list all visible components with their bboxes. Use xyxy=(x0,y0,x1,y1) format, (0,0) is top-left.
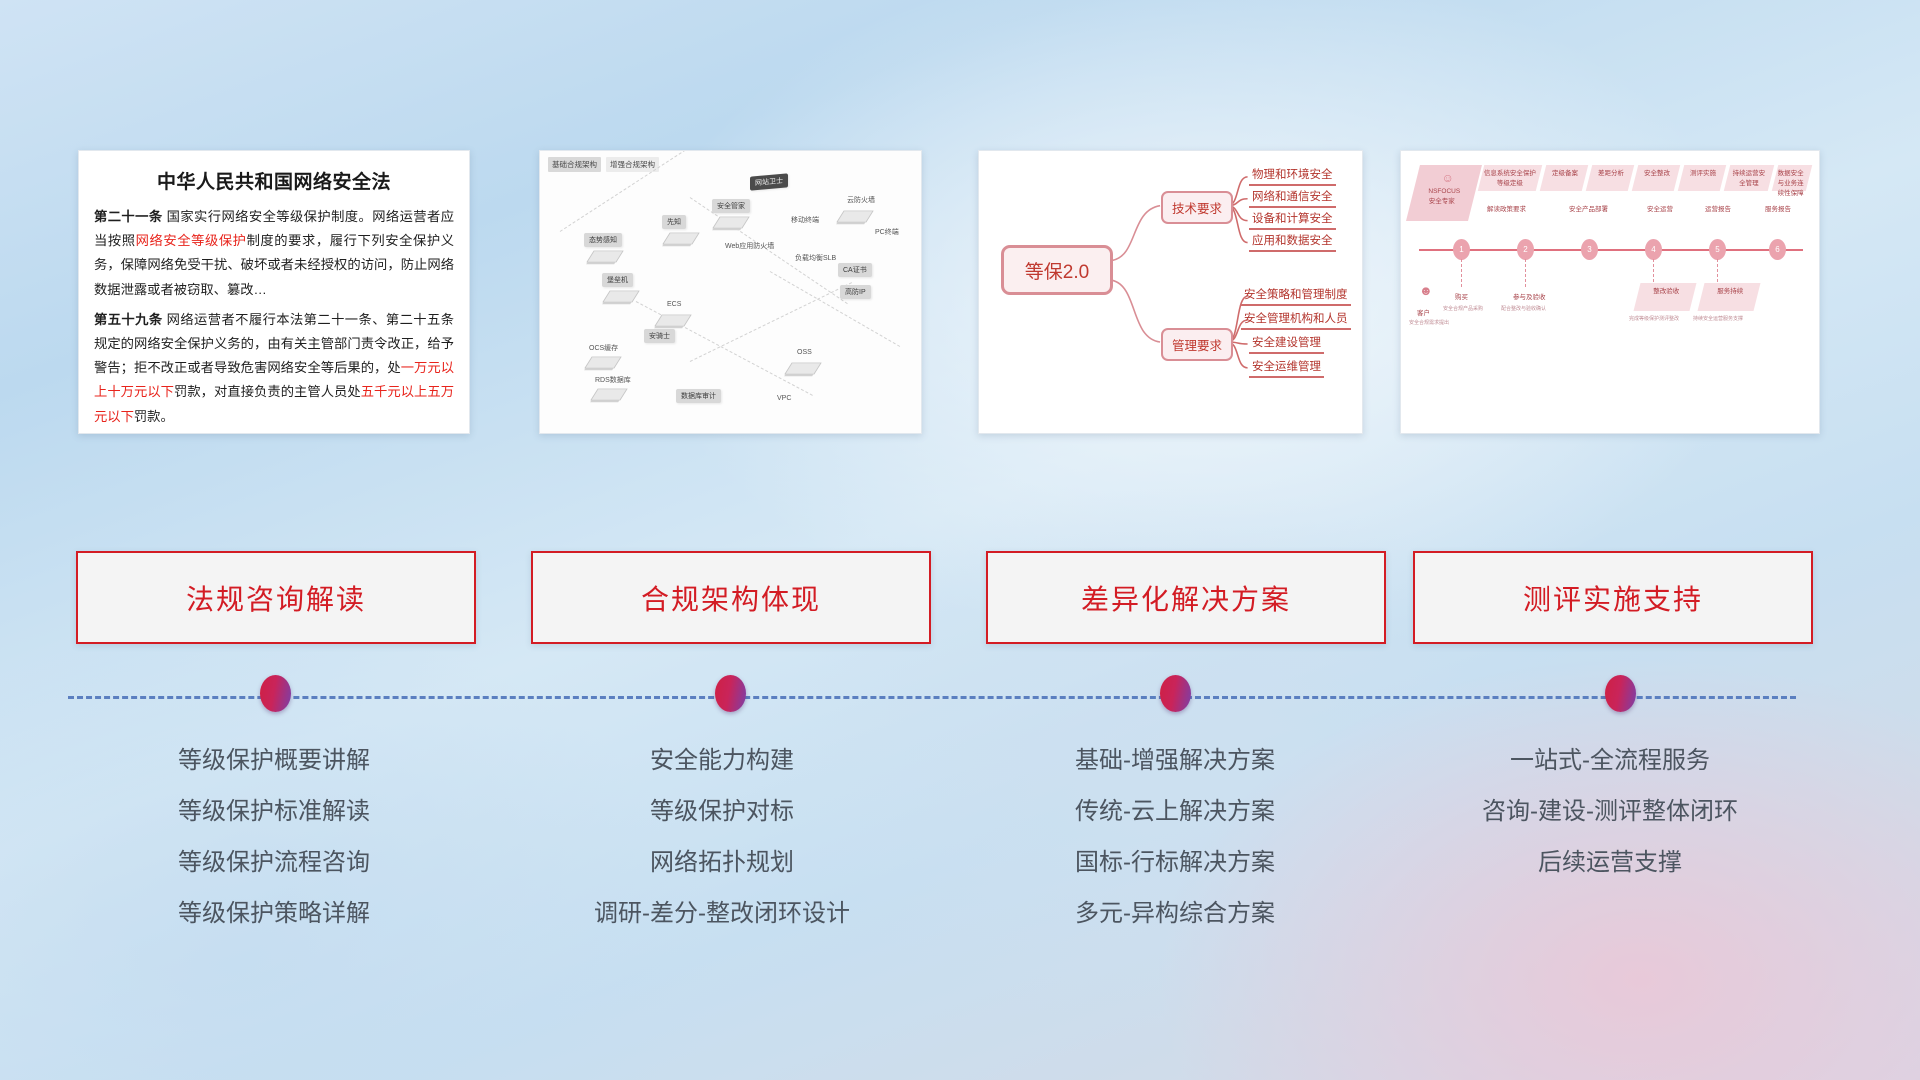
mindmap: 等保2.0 技术要求 管理要求 物理和环境安全 网络和通信安全 设备和计算安全 … xyxy=(979,151,1362,433)
law-text-block: 中华人民共和国网络安全法 第二十一条 国家实行网络安全等级保护制度。网络运营者应… xyxy=(79,151,469,434)
article-59-text-c: 罚款。 xyxy=(134,409,174,424)
nsfocus-top-step: 定级备案 xyxy=(1540,165,1588,191)
list-item: 等级保护策略详解 xyxy=(54,888,494,939)
customer-icon: ☻ xyxy=(1419,283,1433,298)
cube-icon xyxy=(602,291,639,303)
step-label: 持续运营安全管理 xyxy=(1730,169,1768,189)
timeline-dashed-line xyxy=(68,696,1796,699)
nsfocus-timeline: ☺ NSFOCUS 安全专家 信息系统安全保护等级定级 定级备案 差距分析 安全… xyxy=(1401,151,1819,433)
cube-icon xyxy=(662,233,699,245)
bottom-item-sub: 配合整改与验收确认 xyxy=(1501,305,1546,312)
list-item: 网络拓扑规划 xyxy=(502,837,942,888)
mindmap-leaf: 安全策略和管理制度 xyxy=(1241,286,1351,306)
mindmap-leaf: 网络和通信安全 xyxy=(1249,188,1336,208)
step-label: 差距分析 xyxy=(1593,169,1629,179)
list-item: 后续运营支撑 xyxy=(1390,837,1830,888)
bottom-item-sub: 安全合规产品采购 xyxy=(1443,305,1483,312)
timeline-dot xyxy=(715,675,746,712)
title-box-assessment-support[interactable]: 测评实施支持 xyxy=(1413,551,1813,644)
cube-icon xyxy=(584,357,621,369)
card-compliance-architecture[interactable]: 基础合规架构 增强合规架构 网站卫士 安全管家 先知 态势感知 云防火墙 Web… xyxy=(539,150,922,434)
detail-list-column-1: 等级保护概要讲解 等级保护标准解读 等级保护流程咨询 等级保护策略详解 xyxy=(54,735,494,939)
stage-label: 解读政策要求 xyxy=(1487,203,1526,213)
mindmap-leaf: 物理和环境安全 xyxy=(1249,166,1336,186)
mindmap-branch-management: 管理要求 xyxy=(1161,328,1233,361)
tab-basic-architecture[interactable]: 基础合规架构 xyxy=(548,157,601,172)
node-ecs: ECS xyxy=(662,299,686,310)
nsfocus-top-step: 数据安全与业务连续性保障 xyxy=(1772,165,1812,191)
stage-label: 安全产品部署 xyxy=(1569,203,1608,213)
node-mobile-terminal: 移动终端 xyxy=(786,213,824,227)
law-title: 中华人民共和国网络安全法 xyxy=(94,167,454,194)
timeline-dash xyxy=(1461,259,1462,287)
node-foresight: 先知 xyxy=(662,215,686,229)
node-vpc: VPC xyxy=(772,393,796,404)
tab-enhanced-architecture[interactable]: 增强合规架构 xyxy=(606,157,659,172)
timeline-step-number: 6 xyxy=(1769,239,1786,260)
cube-icon xyxy=(590,389,627,401)
timeline-dot xyxy=(260,675,291,712)
mindmap-root: 等保2.0 xyxy=(1001,245,1113,295)
bottom-item-label: 购买 xyxy=(1455,291,1468,301)
card-djcp-mindmap[interactable]: 等保2.0 技术要求 管理要求 物理和环境安全 网络和通信安全 设备和计算安全 … xyxy=(978,150,1363,434)
node-security-butler: 安全管家 xyxy=(712,199,750,213)
mindmap-leaf: 安全运维管理 xyxy=(1249,358,1324,378)
mindmap-leaf: 安全建设管理 xyxy=(1249,334,1324,354)
bottom-item-block: 整改验收 xyxy=(1634,283,1697,311)
nsfocus-expert-title: NSFOCUS xyxy=(1416,187,1472,197)
node-ocs-cache: OCS缓存 xyxy=(584,341,623,355)
list-item: 一站式-全流程服务 xyxy=(1390,735,1830,786)
nsfocus-expert-sub: 安全专家 xyxy=(1414,197,1470,207)
timeline-step-number: 1 xyxy=(1453,239,1470,260)
law-article-59: 第五十九条 网络运营者不履行本法第二十一条、第二十五条规定的网络安全保护义务的，… xyxy=(94,308,454,429)
cube-icon xyxy=(784,363,821,375)
article-21-highlight: 网络安全等级保护 xyxy=(136,233,247,248)
bottom-item-label: 参与及验收 xyxy=(1513,291,1546,301)
detail-lists-row: 等级保护概要讲解 等级保护标准解读 等级保护流程咨询 等级保护策略详解 安全能力… xyxy=(0,735,1920,935)
timeline-row xyxy=(0,688,1920,738)
list-item: 基础-增强解决方案 xyxy=(955,735,1395,786)
node-bastion-host: 堡垒机 xyxy=(602,273,633,287)
stage-label: 安全运营 xyxy=(1647,203,1673,213)
list-item: 等级保护标准解读 xyxy=(54,786,494,837)
customer-sub: 安全合规需求提出 xyxy=(1409,319,1449,326)
person-star-icon: ☺ xyxy=(1420,169,1476,187)
timeline-step-number: 2 xyxy=(1517,239,1534,260)
article-59-label: 第五十九条 xyxy=(94,312,163,327)
list-item: 等级保护对标 xyxy=(502,786,942,837)
step-label: 定级备案 xyxy=(1547,169,1583,179)
nsfocus-top-step: 安全整改 xyxy=(1632,165,1680,191)
list-item: 国标-行标解决方案 xyxy=(955,837,1395,888)
node-situational-awareness: 态势感知 xyxy=(584,233,622,247)
nsfocus-top-step: 持续运营安全管理 xyxy=(1724,165,1774,191)
nsfocus-top-step: 信息系统安全保护等级定级 xyxy=(1478,165,1542,191)
timeline-dash xyxy=(1525,259,1526,287)
cube-icon xyxy=(712,217,749,229)
law-article-21: 第二十一条 国家实行网络安全等级保护制度。网络运营者应当按照网络安全等级保护制度… xyxy=(94,205,454,302)
arch-connector xyxy=(690,282,852,362)
cube-icon xyxy=(586,251,623,263)
node-ca-certificate: CA证书 xyxy=(838,263,872,277)
stage-label: 服务报告 xyxy=(1765,203,1791,213)
arch-connector xyxy=(770,271,900,347)
detail-list-column-2: 安全能力构建 等级保护对标 网络拓扑规划 调研-差分-整改闭环设计 xyxy=(502,735,942,939)
mindmap-branch-technical: 技术要求 xyxy=(1161,191,1233,224)
section-title-row: 法规咨询解读 合规架构体现 差异化解决方案 测评实施支持 xyxy=(0,551,1920,644)
node-pc-terminal: PC终端 xyxy=(870,225,904,239)
list-item: 多元-异构综合方案 xyxy=(955,888,1395,939)
list-item: 安全能力构建 xyxy=(502,735,942,786)
cube-icon xyxy=(836,211,873,223)
image-cards-row: 中华人民共和国网络安全法 第二十一条 国家实行网络安全等级保护制度。网络运营者应… xyxy=(0,150,1920,440)
detail-list-column-3: 基础-增强解决方案 传统-云上解决方案 国标-行标解决方案 多元-异构综合方案 xyxy=(955,735,1395,939)
card-nsfocus-service-timeline[interactable]: ☺ NSFOCUS 安全专家 信息系统安全保护等级定级 定级备案 差距分析 安全… xyxy=(1400,150,1820,434)
node-oss: OSS xyxy=(792,347,817,358)
bottom-item-sub: 持续安全运营服务支撑 xyxy=(1693,315,1743,322)
timeline-step-number: 4 xyxy=(1645,239,1662,260)
article-21-label: 第二十一条 xyxy=(94,209,163,224)
step-label: 安全整改 xyxy=(1639,169,1675,179)
title-label: 合规架构体现 xyxy=(641,578,821,618)
timeline-dot xyxy=(1160,675,1191,712)
bottom-item-label: 整改验收 xyxy=(1641,287,1691,297)
timeline-step-number: 3 xyxy=(1581,239,1598,260)
mindmap-leaf: 安全管理机构和人员 xyxy=(1241,310,1351,330)
cube-icon xyxy=(654,315,691,327)
nsfocus-top-step: 差距分析 xyxy=(1586,165,1634,191)
title-label: 差异化解决方案 xyxy=(1081,578,1291,618)
mindmap-leaf: 应用和数据安全 xyxy=(1249,232,1336,252)
list-item: 传统-云上解决方案 xyxy=(955,786,1395,837)
list-item: 咨询-建设-测评整体闭环 xyxy=(1390,786,1830,837)
title-box-regulation-consulting[interactable]: 法规咨询解读 xyxy=(76,551,476,644)
node-website-guard: 网站卫士 xyxy=(750,173,788,190)
node-slb: 负载均衡SLB xyxy=(790,251,841,265)
card-cybersecurity-law[interactable]: 中华人民共和国网络安全法 第二十一条 国家实行网络安全等级保护制度。网络运营者应… xyxy=(78,150,470,434)
step-label: 信息系统安全保护等级定级 xyxy=(1484,169,1536,189)
title-box-compliance-architecture[interactable]: 合规架构体现 xyxy=(531,551,931,644)
architecture-diagram: 基础合规架构 增强合规架构 网站卫士 安全管家 先知 态势感知 云防火墙 Web… xyxy=(540,151,921,433)
detail-list-column-4: 一站式-全流程服务 咨询-建设-测评整体闭环 后续运营支撑 xyxy=(1390,735,1830,888)
step-label: 数据安全与业务连续性保障 xyxy=(1777,169,1805,198)
node-rds-database: RDS数据库 xyxy=(590,373,636,387)
mindmap-leaf: 设备和计算安全 xyxy=(1249,210,1336,230)
nsfocus-top-step: 测评实施 xyxy=(1678,165,1726,191)
title-box-differentiated-solution[interactable]: 差异化解决方案 xyxy=(986,551,1386,644)
list-item: 等级保护流程咨询 xyxy=(54,837,494,888)
node-web-app-firewall: Web应用防火墙 xyxy=(720,239,779,253)
nsfocus-expert-block: ☺ NSFOCUS 安全专家 xyxy=(1406,165,1482,221)
timeline-dot xyxy=(1605,675,1636,712)
timeline-axis xyxy=(1419,249,1803,251)
title-label: 测评实施支持 xyxy=(1523,578,1703,618)
architecture-tabs: 基础合规架构 增强合规架构 xyxy=(548,157,659,172)
stage-label: 运营报告 xyxy=(1705,203,1731,213)
customer-title: 客户 xyxy=(1417,307,1430,317)
article-59-text-b: 罚款，对直接负责的主管人员处 xyxy=(174,384,361,399)
node-database-audit: 数据库审计 xyxy=(676,389,721,403)
list-item: 等级保护概要讲解 xyxy=(54,735,494,786)
title-label: 法规咨询解读 xyxy=(186,578,366,618)
bottom-item-label: 服务持续 xyxy=(1705,287,1755,297)
bottom-item-sub: 完成等级保护测评整改 xyxy=(1629,315,1679,322)
step-label: 测评实施 xyxy=(1685,169,1721,179)
bottom-item-block: 服务持续 xyxy=(1698,283,1761,311)
node-anti-ddos-ip: 高防IP xyxy=(840,285,871,299)
node-security-guard: 安骑士 xyxy=(644,329,675,343)
timeline-step-number: 5 xyxy=(1709,239,1726,260)
node-cloud-firewall: 云防火墙 xyxy=(842,193,880,207)
list-item: 调研-差分-整改闭环设计 xyxy=(502,888,942,939)
